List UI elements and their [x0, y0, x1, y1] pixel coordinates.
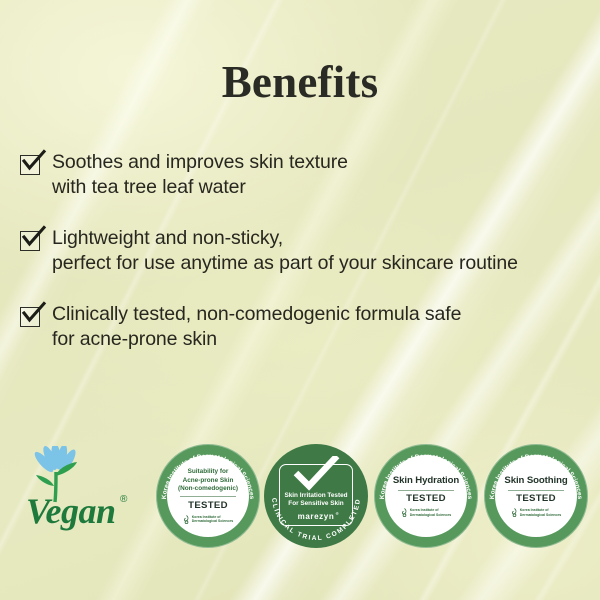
- seal-divider: [398, 490, 454, 491]
- benefit-line-3b: for acne-prone skin: [52, 327, 461, 352]
- seal-skin-irritation-clinical-trial: CLINICAL TRIAL COMPLETED Skin Irritation…: [264, 444, 368, 548]
- seal-skin-hydration: Korea Institute of Dermatological Scienc…: [374, 444, 478, 548]
- institute-emblem-icon: [511, 508, 518, 517]
- seal-acne-prone-suitability: Korea Institute of Dermatological Scienc…: [156, 444, 260, 548]
- seal-divider: [508, 490, 564, 491]
- seal-title: Skin Soothing: [504, 475, 567, 487]
- vegan-logo: Vegan ®: [14, 446, 144, 546]
- checkbox-checked-icon: [20, 307, 40, 327]
- institute-emblem-icon: [183, 515, 190, 524]
- institute-mark-text: Korea Institute of Dermatological Scienc…: [192, 515, 233, 524]
- vegan-logo-text: Vegan: [26, 490, 116, 532]
- brand-name: marezyn: [298, 512, 335, 521]
- benefit-text-3: Clinically tested, non-comedogenic formu…: [52, 302, 461, 352]
- brand-registered-mark: ®: [336, 511, 340, 516]
- institute-line-2: Dermatological Sciences: [410, 513, 451, 517]
- seal-status: TESTED: [188, 500, 228, 511]
- checkbox-checked-icon: [20, 231, 40, 251]
- seal-inner: Suitability for Acne-prone Skin (Non-com…: [167, 455, 249, 537]
- benefit-item-3: Clinically tested, non-comedogenic formu…: [20, 302, 580, 352]
- seal-status: TESTED: [406, 493, 446, 504]
- institute-line-2: Dermatological Sciences: [192, 519, 233, 523]
- page-title: Benefits: [0, 56, 600, 108]
- institute-mark: Korea Institute of Dermatological Scienc…: [511, 508, 561, 517]
- benefit-item-2: Lightweight and non-sticky, perfect for …: [20, 226, 580, 276]
- seal-description: Suitability for Acne-prone Skin (Non-com…: [174, 468, 242, 493]
- benefit-line-3a: Clinically tested, non-comedogenic formu…: [52, 303, 461, 325]
- benefit-line-2b: perfect for use anytime as part of your …: [52, 251, 518, 276]
- institute-mark-text: Korea Institute of Dermatological Scienc…: [520, 508, 561, 517]
- benefit-text-2: Lightweight and non-sticky, perfect for …: [52, 226, 518, 276]
- seal-line-3: (Non-comedogenic): [178, 485, 238, 493]
- seal-skin-soothing: Korea Institute of Dermatological Scienc…: [484, 444, 588, 548]
- seal-line-2: Acne-prone Skin: [178, 477, 238, 485]
- benefit-item-1: Soothes and improves skin texture with t…: [20, 150, 580, 200]
- benefit-line-1b: with tea tree leaf water: [52, 175, 348, 200]
- seal-status: TESTED: [516, 493, 556, 504]
- seal-title: Skin Hydration: [393, 475, 459, 487]
- benefit-text-1: Soothes and improves skin texture with t…: [52, 150, 348, 200]
- seal-line-1: Skin Irritation Tested: [284, 492, 347, 500]
- institute-mark: Korea Institute of Dermatological Scienc…: [183, 515, 233, 524]
- seal-inner: Skin Hydration TESTED Korea Institute of…: [385, 455, 467, 537]
- benefits-infographic: Benefits Soothes and improves skin textu…: [0, 0, 600, 600]
- institute-emblem-icon: [401, 508, 408, 517]
- seal-line-1: Suitability for: [178, 468, 238, 476]
- institute-mark: Korea Institute of Dermatological Scienc…: [401, 508, 451, 517]
- brand-logo-text: marezyn®: [298, 512, 335, 521]
- checkbox-checked-icon: [20, 155, 40, 175]
- benefits-list: Soothes and improves skin texture with t…: [20, 150, 580, 378]
- benefit-line-1a: Soothes and improves skin texture: [52, 151, 348, 173]
- institute-mark-text: Korea Institute of Dermatological Scienc…: [410, 508, 451, 517]
- vegan-registered-mark: ®: [120, 494, 127, 505]
- institute-line-2: Dermatological Sciences: [520, 513, 561, 517]
- seal-inner: Skin Soothing TESTED Korea Institute of …: [495, 455, 577, 537]
- seal-description: Skin Irritation Tested For Sensitive Ski…: [284, 492, 347, 508]
- certification-badge-row: Vegan ® Korea Institute of Dermatologica…: [0, 438, 600, 556]
- seal-inner: Skin Irritation Tested For Sensitive Ski…: [279, 464, 353, 526]
- seal-divider: [180, 496, 236, 497]
- seal-line-2: For Sensitive Skin: [284, 500, 347, 508]
- benefit-line-2a: Lightweight and non-sticky,: [52, 227, 283, 249]
